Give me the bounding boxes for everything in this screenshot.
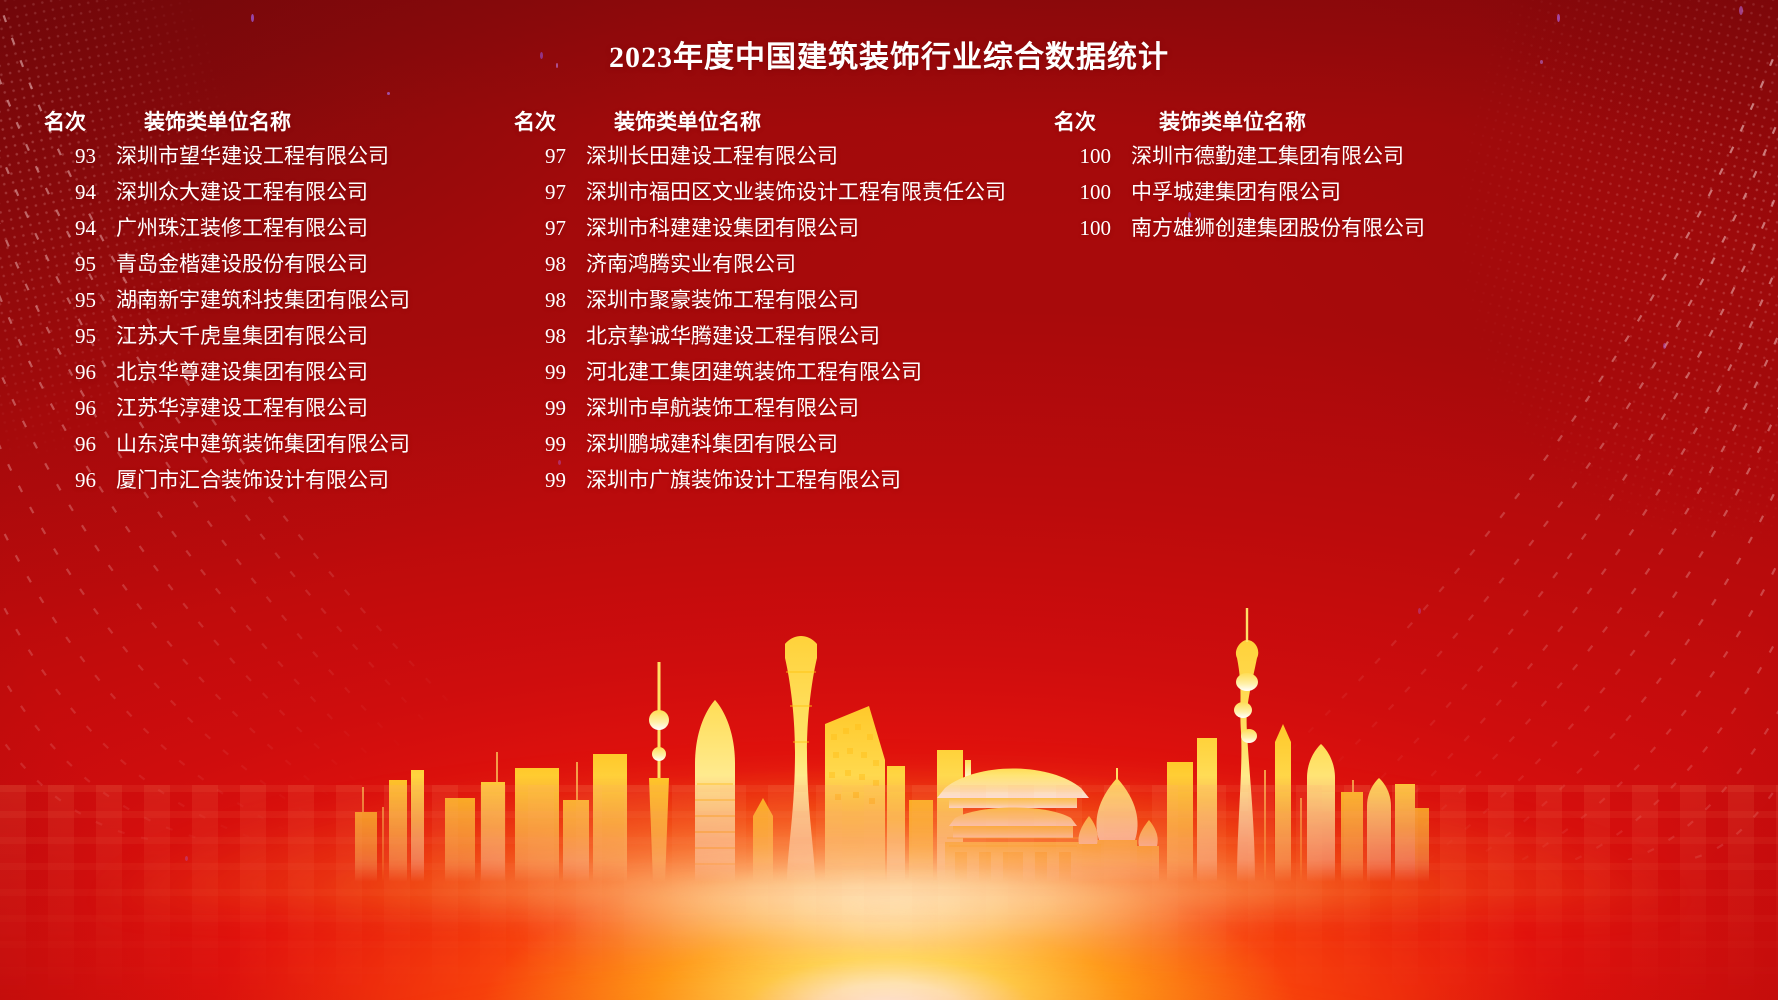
sparkle-dot <box>251 14 254 22</box>
rank-value: 96 <box>34 432 100 457</box>
table-row: 100 中孚城建集团有限公司 <box>1039 176 1425 212</box>
ranking-column-3: 名次 装饰类单位名称 100 深圳市德勤建工集团有限公司 100 中孚城建集团有… <box>1039 106 1425 248</box>
table-row: 99 深圳鹏城建科集团有限公司 <box>504 428 1039 464</box>
table-row: 97 深圳长田建设工程有限公司 <box>504 140 1039 176</box>
table-row: 99 深圳市广旗装饰设计工程有限公司 <box>504 464 1039 500</box>
company-name: 深圳市聚豪装饰工程有限公司 <box>570 284 859 314</box>
table-row: 98 深圳市聚豪装饰工程有限公司 <box>504 284 1039 320</box>
rank-value: 100 <box>1039 180 1115 205</box>
company-name: 深圳市广旗装饰设计工程有限公司 <box>570 464 901 494</box>
column-header: 名次 装饰类单位名称 <box>504 106 1039 140</box>
rank-value: 95 <box>34 288 100 313</box>
company-name: 北京华尊建设集团有限公司 <box>100 356 368 386</box>
page-title: 2023年度中国建筑装饰行业综合数据统计 <box>0 32 1778 76</box>
company-name: 深圳长田建设工程有限公司 <box>570 140 838 170</box>
company-name: 山东滨中建筑装饰集团有限公司 <box>100 428 410 458</box>
header-rank: 名次 <box>34 106 96 136</box>
sparkle-dot <box>1739 6 1743 15</box>
company-name: 济南鸿腾实业有限公司 <box>570 248 796 278</box>
company-name: 南方雄狮创建集团股份有限公司 <box>1115 212 1425 242</box>
company-name: 河北建工集团建筑装饰工程有限公司 <box>570 356 922 386</box>
table-row: 94 广州珠江装修工程有限公司 <box>34 212 504 248</box>
table-row: 93 深圳市望华建设工程有限公司 <box>34 140 504 176</box>
table-row: 98 济南鸿腾实业有限公司 <box>504 248 1039 284</box>
rank-value: 94 <box>34 216 100 241</box>
company-name: 深圳市卓航装饰工程有限公司 <box>570 392 859 422</box>
company-name: 北京挚诚华腾建设工程有限公司 <box>570 320 880 350</box>
table-row: 96 厦门市汇合装饰设计有限公司 <box>34 464 504 500</box>
sparkle-dot <box>387 92 390 95</box>
header-rank: 名次 <box>1039 106 1111 136</box>
table-row: 100 深圳市德勤建工集团有限公司 <box>1039 140 1425 176</box>
table-row: 99 深圳市卓航装饰工程有限公司 <box>504 392 1039 428</box>
table-row: 95 青岛金楷建设股份有限公司 <box>34 248 504 284</box>
rank-value: 98 <box>504 252 570 277</box>
company-name: 厦门市汇合装饰设计有限公司 <box>100 464 389 494</box>
table-row: 96 江苏华淳建设工程有限公司 <box>34 392 504 428</box>
table-row: 95 江苏大千虎皇集团有限公司 <box>34 320 504 356</box>
header-rank: 名次 <box>504 106 566 136</box>
company-name: 中孚城建集团有限公司 <box>1115 176 1341 206</box>
table-row: 100 南方雄狮创建集团股份有限公司 <box>1039 212 1425 248</box>
rank-value: 99 <box>504 360 570 385</box>
table-row: 97 深圳市福田区文业装饰设计工程有限责任公司 <box>504 176 1039 212</box>
ranking-column-2: 名次 装饰类单位名称 97 深圳长田建设工程有限公司 97 深圳市福田区文业装饰… <box>504 106 1039 500</box>
table-row: 99 河北建工集团建筑装饰工程有限公司 <box>504 356 1039 392</box>
rank-value: 96 <box>34 468 100 493</box>
rank-value: 99 <box>504 432 570 457</box>
column-header: 名次 装饰类单位名称 <box>1039 106 1425 140</box>
ranking-table: 名次 装饰类单位名称 93 深圳市望华建设工程有限公司 94 深圳众大建设工程有… <box>0 106 1778 500</box>
company-name: 青岛金楷建设股份有限公司 <box>100 248 368 278</box>
company-name: 深圳众大建设工程有限公司 <box>100 176 368 206</box>
table-row: 97 深圳市科建建设集团有限公司 <box>504 212 1039 248</box>
company-name: 深圳市科建建设集团有限公司 <box>570 212 859 242</box>
poster-canvas: 2023年度中国建筑装饰行业综合数据统计 名次 装饰类单位名称 93 深圳市望华… <box>0 0 1778 1000</box>
header-name: 装饰类单位名称 <box>1111 106 1306 136</box>
rank-value: 98 <box>504 288 570 313</box>
company-name: 深圳鹏城建科集团有限公司 <box>570 428 838 458</box>
table-row: 95 湖南新宇建筑科技集团有限公司 <box>34 284 504 320</box>
column-header: 名次 装饰类单位名称 <box>34 106 504 140</box>
rank-value: 99 <box>504 468 570 493</box>
ranking-column-1: 名次 装饰类单位名称 93 深圳市望华建设工程有限公司 94 深圳众大建设工程有… <box>34 106 504 500</box>
table-row: 94 深圳众大建设工程有限公司 <box>34 176 504 212</box>
company-name: 深圳市福田区文业装饰设计工程有限责任公司 <box>570 176 1006 206</box>
rank-value: 96 <box>34 396 100 421</box>
sparkle-dot <box>1557 14 1560 22</box>
rank-value: 94 <box>34 180 100 205</box>
rank-value: 95 <box>34 324 100 349</box>
rank-value: 98 <box>504 324 570 349</box>
company-name: 深圳市望华建设工程有限公司 <box>100 140 389 170</box>
rank-value: 97 <box>504 180 570 205</box>
company-name: 湖南新宇建筑科技集团有限公司 <box>100 284 410 314</box>
rank-value: 96 <box>34 360 100 385</box>
company-name: 深圳市德勤建工集团有限公司 <box>1115 140 1404 170</box>
table-row: 98 北京挚诚华腾建设工程有限公司 <box>504 320 1039 356</box>
header-name: 装饰类单位名称 <box>566 106 761 136</box>
header-name: 装饰类单位名称 <box>96 106 291 136</box>
company-name: 江苏华淳建设工程有限公司 <box>100 392 368 422</box>
rank-value: 95 <box>34 252 100 277</box>
table-row: 96 山东滨中建筑装饰集团有限公司 <box>34 428 504 464</box>
company-name: 江苏大千虎皇集团有限公司 <box>100 320 368 350</box>
rank-value: 99 <box>504 396 570 421</box>
company-name: 广州珠江装修工程有限公司 <box>100 212 368 242</box>
table-row: 96 北京华尊建设集团有限公司 <box>34 356 504 392</box>
rank-value: 93 <box>34 144 100 169</box>
rank-value: 97 <box>504 144 570 169</box>
foreground-dash-pattern <box>0 785 1778 1000</box>
rank-value: 97 <box>504 216 570 241</box>
rank-value: 100 <box>1039 216 1115 241</box>
rank-value: 100 <box>1039 144 1115 169</box>
